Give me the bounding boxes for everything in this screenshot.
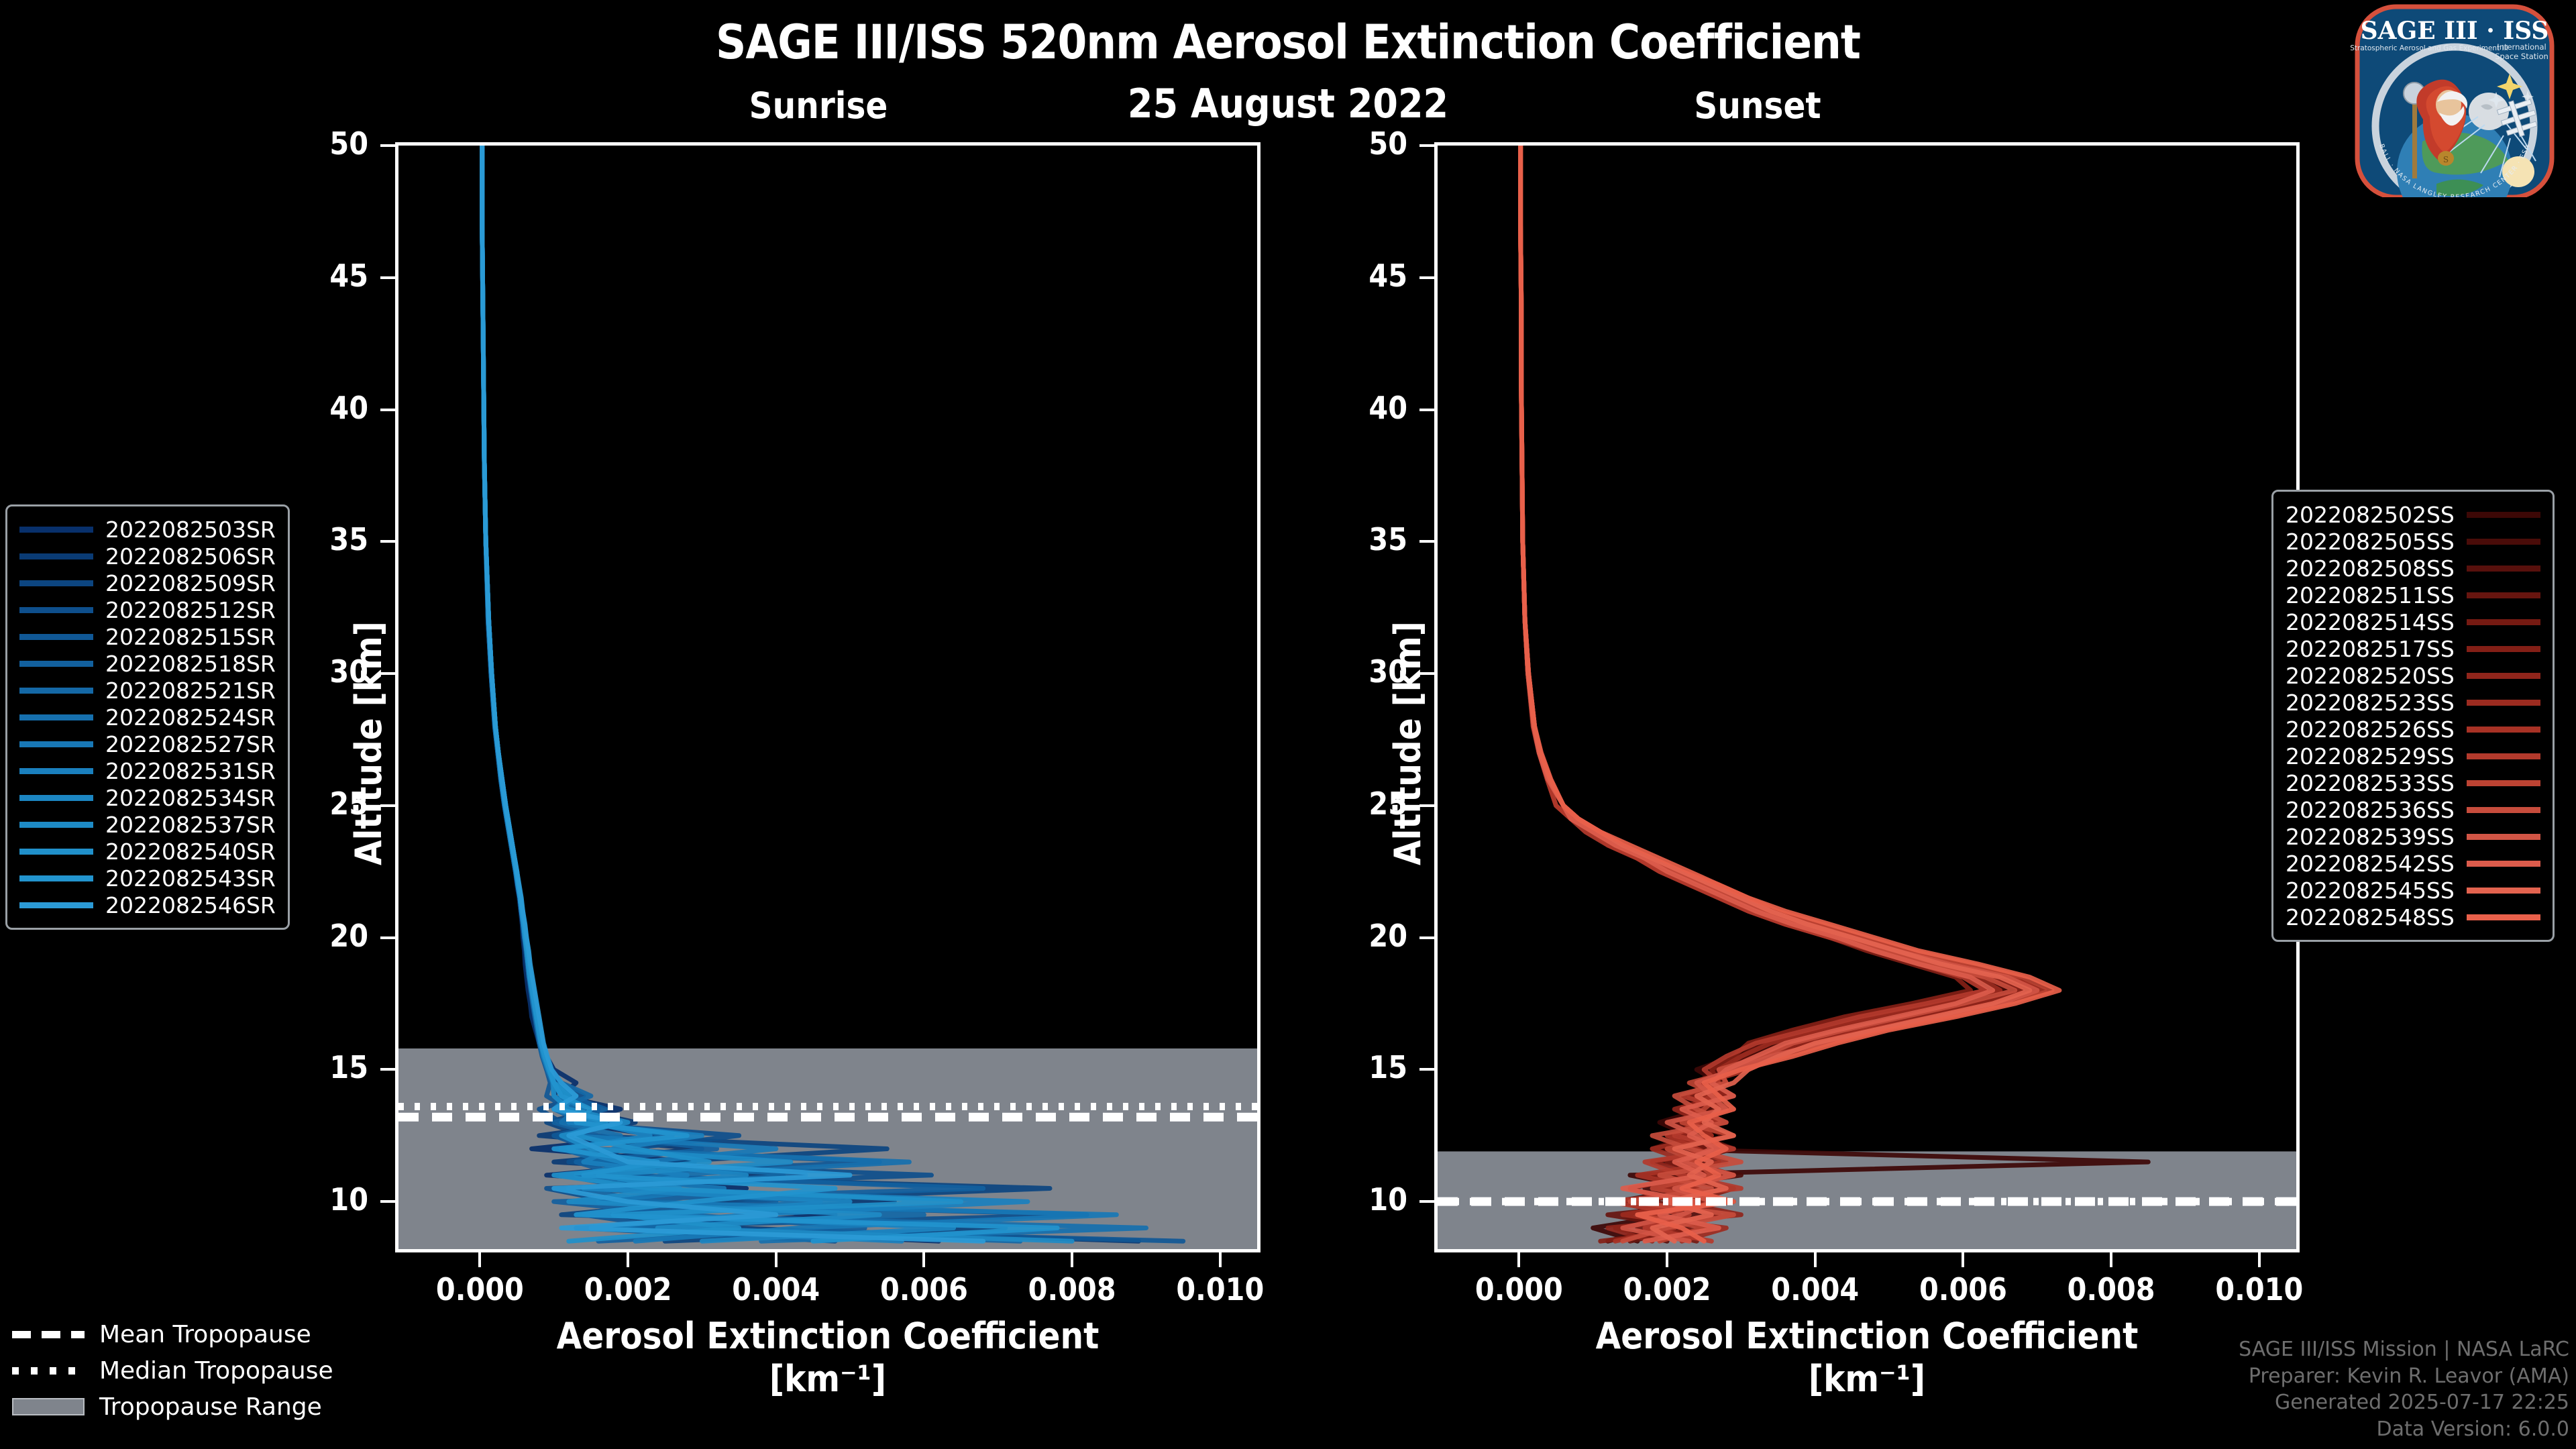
y-axis-tick: [380, 540, 395, 543]
legend-item-label: 2022082534SR: [105, 785, 276, 811]
x-axis-tick-label: 0.002: [554, 1271, 702, 1307]
y-axis-tick: [380, 276, 395, 279]
median-tropopause-key: [12, 1362, 85, 1379]
credits-line: Generated 2025-07-17 22:25: [2239, 1389, 2569, 1416]
sunrise-panel-title: Sunrise: [631, 85, 1006, 127]
y-axis-tick: [1419, 540, 1434, 543]
legend-item[interactable]: 2022082520SS: [2286, 662, 2540, 689]
x-axis-tick: [922, 1252, 925, 1267]
y-axis-tick-label: 20: [1327, 918, 1407, 954]
x-axis-tick-label: 0.000: [406, 1271, 553, 1307]
legend-item[interactable]: 2022082531SR: [19, 757, 276, 784]
legend-color-swatch: [2467, 673, 2540, 679]
svg-text:S: S: [2443, 155, 2449, 164]
legend-color-swatch: [19, 875, 93, 881]
tropopause-legend-label: Mean Tropopause: [99, 1321, 311, 1348]
legend-item[interactable]: 2022082534SR: [19, 784, 276, 811]
profile-line: [1521, 146, 2030, 1241]
legend-color-swatch: [2467, 539, 2540, 545]
x-axis-tick-label: 0.006: [1889, 1271, 2037, 1307]
legend-item-label: 2022082543SR: [105, 865, 276, 892]
legend-item-label: 2022082517SS: [2286, 636, 2455, 662]
x-axis-tick-label: 0.002: [1593, 1271, 1741, 1307]
x-axis-title-line1: Aerosol Extinction Coefficient: [392, 1315, 1264, 1358]
legend-item-label: 2022082526SS: [2286, 716, 2455, 743]
legend-item-label: 2022082508SS: [2286, 555, 2455, 582]
y-axis-tick-label: 50: [288, 125, 368, 162]
x-axis-tick-label: 0.010: [1146, 1271, 1294, 1307]
legend-item-label: 2022082521SR: [105, 678, 276, 704]
tropopause-legend: Mean TropopauseMedian TropopauseTropopau…: [12, 1316, 361, 1425]
legend-item[interactable]: 2022082521SR: [19, 677, 276, 704]
y-axis-tick: [380, 1068, 395, 1071]
legend-color-swatch: [19, 902, 93, 908]
legend-item[interactable]: 2022082529SS: [2286, 743, 2540, 769]
y-axis-tick-label: 35: [1327, 521, 1407, 557]
sunrise-plot-panel: [395, 142, 1260, 1252]
legend-color-swatch: [2467, 888, 2540, 894]
legend-item[interactable]: 2022082533SS: [2286, 769, 2540, 796]
y-axis-tick-label: 35: [288, 521, 368, 557]
legend-color-swatch: [19, 822, 93, 828]
legend-color-swatch: [2467, 753, 2540, 759]
legend-item[interactable]: 2022082536SS: [2286, 796, 2540, 823]
legend-color-swatch: [2467, 592, 2540, 598]
legend-color-swatch: [19, 688, 93, 694]
x-axis-tick: [2110, 1252, 2112, 1267]
tropopause-legend-item: Mean Tropopause: [12, 1316, 361, 1352]
legend-color-swatch: [2467, 834, 2540, 840]
legend-item-label: 2022082520SS: [2286, 663, 2455, 689]
y-axis-tick: [1419, 936, 1434, 939]
sunset-x-axis-title: Aerosol Extinction Coefficient [km⁻¹]: [1431, 1315, 2303, 1400]
x-axis-title-line2: [km⁻¹]: [1431, 1358, 2303, 1401]
x-axis-tick: [775, 1252, 777, 1267]
y-axis-tick: [1419, 276, 1434, 279]
tropopause-legend-item: Tropopause Range: [12, 1389, 361, 1425]
legend-color-swatch: [19, 768, 93, 774]
legend-item[interactable]: 2022082514SS: [2286, 608, 2540, 635]
legend-item[interactable]: 2022082542SS: [2286, 850, 2540, 877]
legend-color-swatch: [19, 741, 93, 747]
sunrise-y-axis-title: Altitude [km]: [347, 621, 390, 865]
legend-color-swatch: [19, 607, 93, 613]
profile-line: [1521, 146, 2023, 1241]
legend-item-label: 2022082503SR: [105, 517, 276, 543]
legend-item-label: 2022082548SS: [2286, 904, 2455, 930]
profile-line: [1521, 146, 1986, 1241]
x-axis-tick: [1517, 1252, 1520, 1267]
x-axis-tick: [627, 1252, 629, 1267]
logo-subtitle-right-line2: Space Station: [2495, 52, 2548, 61]
y-axis-tick-label: 15: [288, 1049, 368, 1085]
legend-item-label: 2022082514SS: [2286, 609, 2455, 635]
legend-item[interactable]: 2022082509SR: [19, 570, 276, 596]
legend-item[interactable]: 2022082523SS: [2286, 689, 2540, 716]
logo-subtitle-right-line1: International: [2497, 42, 2546, 52]
legend-item-label: 2022082527SR: [105, 731, 276, 757]
profile-line: [1521, 146, 1986, 1241]
x-axis-tick-label: 0.000: [1445, 1271, 1593, 1307]
x-axis-title-line1: Aerosol Extinction Coefficient: [1431, 1315, 2303, 1358]
x-axis-tick: [1666, 1252, 1668, 1267]
legend-item[interactable]: 2022082508SS: [2286, 555, 2540, 582]
legend-item[interactable]: 2022082506SR: [19, 543, 276, 570]
legend-item[interactable]: 2022082543SR: [19, 865, 276, 892]
legend-item-label: 2022082539SS: [2286, 824, 2455, 850]
y-axis-tick-label: 45: [1327, 258, 1407, 294]
legend-color-swatch: [2467, 727, 2540, 733]
x-axis-tick-label: 0.004: [702, 1271, 850, 1307]
logo-title: SAGE III · ISS: [2361, 17, 2549, 45]
credits-line: Preparer: Kevin R. Leavor (AMA): [2239, 1363, 2569, 1390]
y-axis-tick-label: 40: [1327, 390, 1407, 426]
legend-color-swatch: [19, 527, 93, 533]
sage-iii-iss-mission-patch-logo: S BALL · NASA LANGLEY RESEARCH CENTER · …: [2305, 4, 2571, 197]
legend-item[interactable]: 2022082540SR: [19, 838, 276, 865]
legend-item-label: 2022082529SS: [2286, 743, 2455, 769]
legend-item-label: 2022082545SS: [2286, 877, 2455, 904]
legend-color-swatch: [2467, 646, 2540, 652]
x-axis-tick: [478, 1252, 481, 1267]
profile-line: [1521, 146, 2037, 1241]
x-axis-tick: [2258, 1252, 2261, 1267]
profile-line: [1521, 146, 2052, 1241]
legend-item-label: 2022082537SR: [105, 812, 276, 838]
legend-item-label: 2022082505SS: [2286, 529, 2455, 555]
y-axis-tick-label: 50: [1327, 125, 1407, 162]
legend-item-label: 2022082536SS: [2286, 797, 2455, 823]
legend-item-label: 2022082518SR: [105, 651, 276, 677]
legend-item-label: 2022082502SS: [2286, 502, 2455, 528]
legend-item-label: 2022082546SR: [105, 892, 276, 918]
legend-item[interactable]: 2022082539SS: [2286, 823, 2540, 850]
legend-color-swatch: [19, 661, 93, 667]
x-axis-tick-label: 0.006: [850, 1271, 998, 1307]
y-axis-tick: [380, 936, 395, 939]
y-axis-tick-label: 15: [1327, 1049, 1407, 1085]
tropopause-legend-label: Median Tropopause: [99, 1357, 333, 1385]
profile-line: [1521, 146, 2045, 1241]
legend-color-swatch: [2467, 861, 2540, 867]
legend-item-label: 2022082506SR: [105, 543, 276, 570]
legend-color-swatch: [19, 849, 93, 855]
legend-item-label: 2022082542SS: [2286, 851, 2455, 877]
legend-item-label: 2022082523SS: [2286, 690, 2455, 716]
legend-color-swatch: [19, 580, 93, 586]
logo-subtitle-left: Stratospheric Aerosol and Gas Experiment…: [2350, 44, 2508, 52]
legend-color-swatch: [2467, 807, 2540, 813]
y-axis-tick: [380, 144, 395, 147]
y-axis-tick: [1419, 1200, 1434, 1203]
legend-item-label: 2022082540SR: [105, 839, 276, 865]
y-axis-tick: [1419, 409, 1434, 411]
legend-item-label: 2022082533SS: [2286, 770, 2455, 796]
legend-item[interactable]: 2022082524SR: [19, 704, 276, 731]
legend-color-swatch: [19, 634, 93, 640]
y-axis-tick-label: 10: [288, 1181, 368, 1218]
y-axis-tick: [380, 409, 395, 411]
profile-line: [1521, 146, 2030, 1241]
mean-tropopause-key: [12, 1326, 85, 1343]
legend-item-label: 2022082515SR: [105, 624, 276, 650]
profile-line: [1521, 146, 2000, 1241]
profile-line: [1521, 146, 2015, 1241]
profile-line: [1521, 146, 1993, 1241]
legend-item[interactable]: 2022082505SS: [2286, 528, 2540, 555]
profile-line: [1521, 146, 2037, 1241]
legend-item[interactable]: 2022082548SS: [2286, 904, 2540, 930]
legend-item[interactable]: 2022082503SR: [19, 516, 276, 543]
x-axis-tick: [1814, 1252, 1817, 1267]
legend-item[interactable]: 2022082515SR: [19, 623, 276, 650]
sunset-legend: 2022082502SS2022082505SS2022082508SS2022…: [2271, 490, 2555, 942]
credits-line: Data Version: 6.0.0: [2239, 1416, 2569, 1443]
legend-item[interactable]: 2022082518SR: [19, 650, 276, 677]
legend-item-label: 2022082509SR: [105, 570, 276, 596]
profile-line: [1521, 146, 2149, 1241]
profile-line: [1521, 146, 2008, 1241]
sunset-panel-title: Sunset: [1570, 85, 1945, 127]
legend-item[interactable]: 2022082512SR: [19, 596, 276, 623]
y-axis-tick-label: 10: [1327, 1181, 1407, 1218]
legend-color-swatch: [2467, 566, 2540, 572]
tropopause-range-key: [12, 1398, 85, 1415]
legend-item[interactable]: 2022082527SR: [19, 731, 276, 757]
y-axis-tick-label: 45: [288, 258, 368, 294]
legend-item[interactable]: 2022082526SS: [2286, 716, 2540, 743]
sunrise-x-axis-title: Aerosol Extinction Coefficient [km⁻¹]: [392, 1315, 1264, 1400]
tropopause-range-key-glyph: [12, 1398, 85, 1415]
x-axis-tick-label: 0.004: [1741, 1271, 1889, 1307]
sunset-y-axis-title: Altitude [km]: [1387, 621, 1429, 865]
legend-item[interactable]: 2022082537SR: [19, 811, 276, 838]
legend-color-swatch: [2467, 512, 2540, 518]
tropopause-legend-item: Median Tropopause: [12, 1352, 361, 1389]
x-axis-tick-label: 0.008: [998, 1271, 1146, 1307]
x-axis-title-line2: [km⁻¹]: [392, 1358, 1264, 1401]
sunrise-legend: 2022082503SR2022082506SR2022082509SR2022…: [5, 504, 290, 930]
profile-line: [1521, 146, 2059, 1241]
legend-item[interactable]: 2022082511SS: [2286, 582, 2540, 608]
mean-tropopause-key-glyph: [12, 1331, 85, 1338]
y-axis-tick: [1419, 144, 1434, 147]
legend-item-label: 2022082512SR: [105, 597, 276, 623]
y-axis-tick-label: 20: [288, 918, 368, 954]
legend-color-swatch: [19, 795, 93, 801]
y-axis-tick-label: 40: [288, 390, 368, 426]
date-subtitle: 25 August 2022: [993, 80, 1583, 127]
legend-item-label: 2022082524SR: [105, 704, 276, 731]
credits-block: SAGE III/ISS Mission | NASA LaRCPreparer…: [2239, 1336, 2569, 1442]
x-axis-tick-label: 0.010: [2186, 1271, 2333, 1307]
y-axis-tick: [1419, 1068, 1434, 1071]
page-title: SAGE III/ISS 520nm Aerosol Extinction Co…: [0, 15, 2576, 70]
median-tropopause-key-glyph: [12, 1367, 85, 1375]
legend-color-swatch: [19, 553, 93, 559]
legend-color-swatch: [2467, 700, 2540, 706]
legend-color-swatch: [2467, 619, 2540, 625]
x-axis-tick: [1962, 1252, 1964, 1267]
credits-line: SAGE III/ISS Mission | NASA LaRC: [2239, 1336, 2569, 1363]
profile-line: [1521, 146, 1971, 1241]
sunset-plot-panel: [1434, 142, 2300, 1252]
legend-color-swatch: [2467, 914, 2540, 920]
legend-color-swatch: [19, 714, 93, 720]
legend-item[interactable]: 2022082502SS: [2286, 501, 2540, 528]
legend-item[interactable]: 2022082517SS: [2286, 635, 2540, 662]
y-axis-tick: [380, 1200, 395, 1203]
legend-color-swatch: [2467, 780, 2540, 786]
x-axis-tick: [1219, 1252, 1222, 1267]
x-axis-tick-label: 0.008: [2037, 1271, 2185, 1307]
legend-item[interactable]: 2022082546SR: [19, 892, 276, 918]
legend-item[interactable]: 2022082545SS: [2286, 877, 2540, 904]
tropopause-legend-label: Tropopause Range: [99, 1393, 322, 1421]
legend-item-label: 2022082531SR: [105, 758, 276, 784]
x-axis-tick: [1071, 1252, 1073, 1267]
legend-item-label: 2022082511SS: [2286, 582, 2455, 608]
